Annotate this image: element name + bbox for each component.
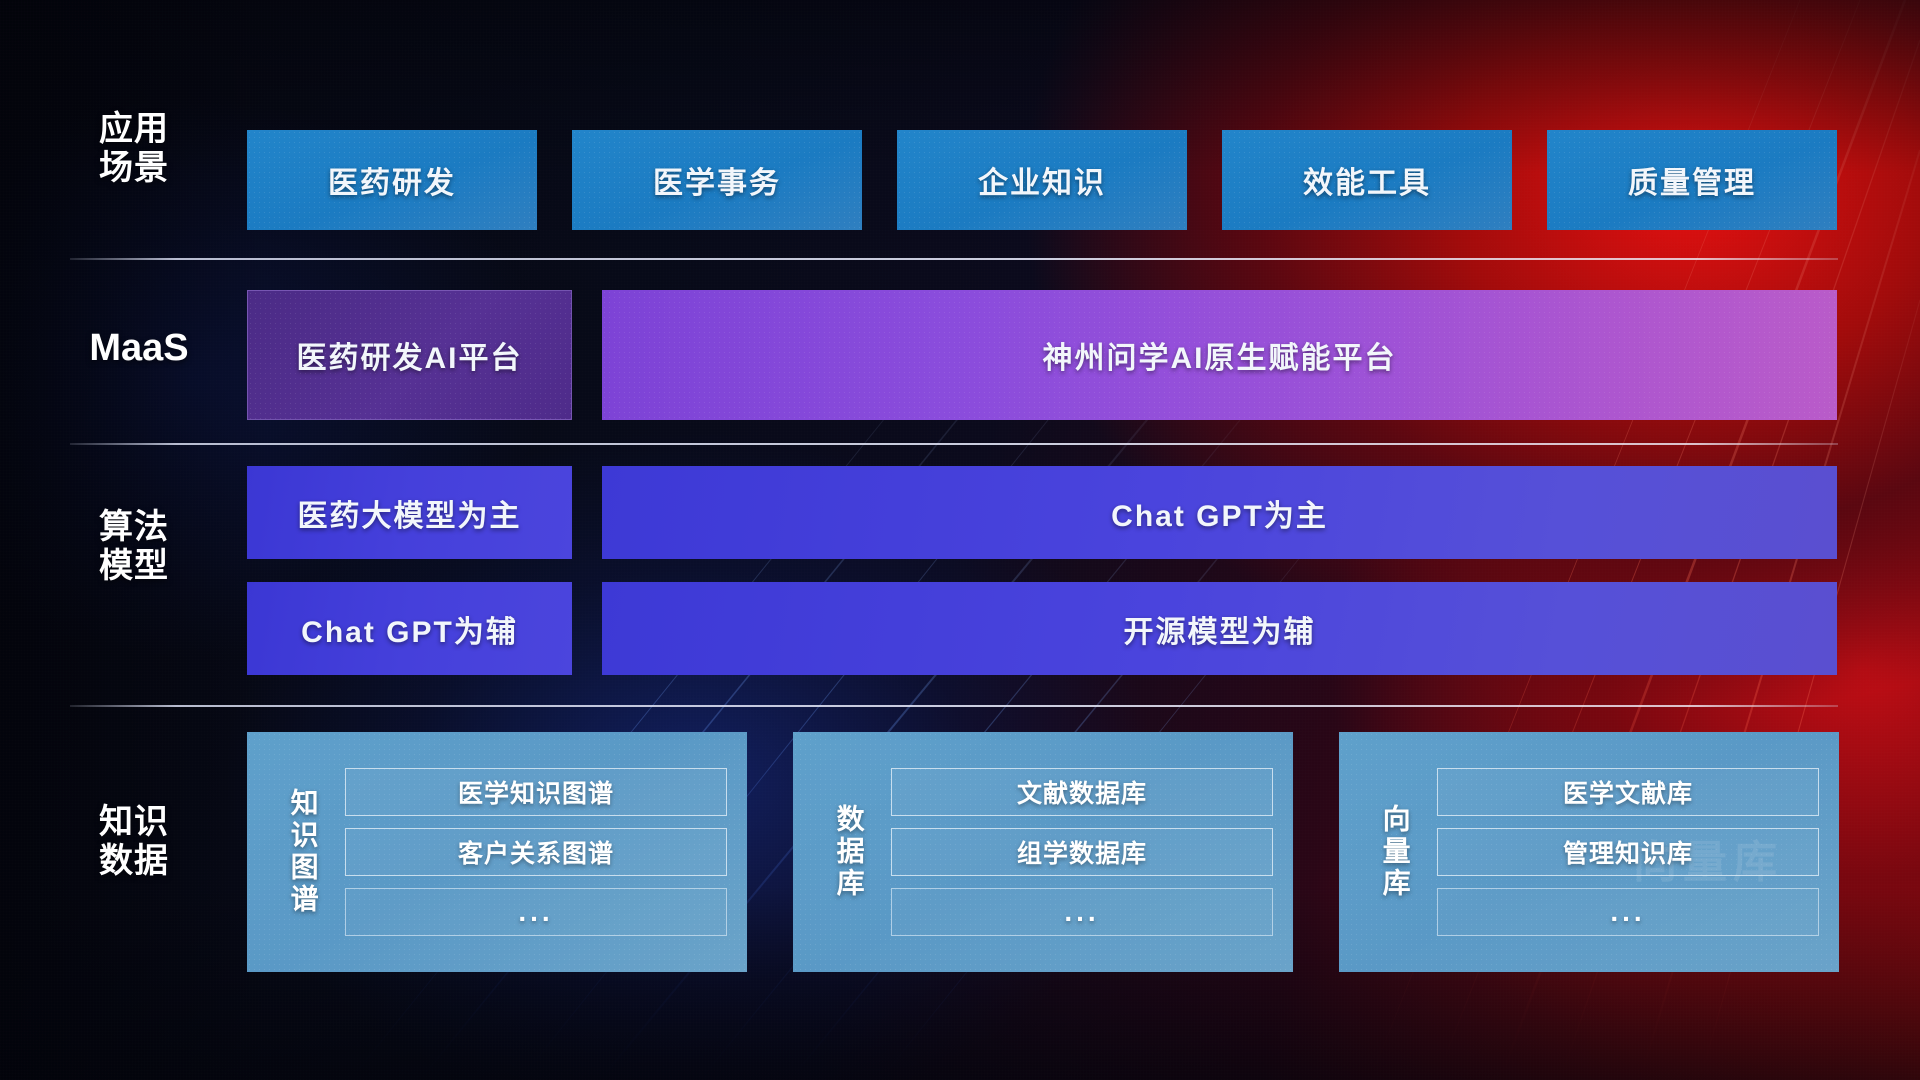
algo-right-box-1-label: 开源模型为辅 (1124, 607, 1316, 651)
knowledge-group-2-item-2[interactable]: ... (1437, 888, 1819, 936)
app-box-1[interactable]: 医学事务 (572, 130, 862, 230)
maas-right-box[interactable]: 神州问学AI原生赋能平台 (602, 290, 1837, 420)
knowledge-group-0-item-1[interactable]: 客户关系图谱 (345, 828, 727, 876)
app-box-0[interactable]: 医药研发 (247, 130, 537, 230)
app-box-3-label: 效能工具 (1303, 158, 1431, 202)
algo-left-box-0[interactable]: 医药大模型为主 (247, 466, 572, 559)
knowledge-group-1-item-2[interactable]: ... (891, 888, 1273, 936)
knowledge-group-0-label: 知识图谱 (275, 788, 331, 916)
knowledge-group-0-item-0[interactable]: 医学知识图谱 (345, 768, 727, 816)
architecture-diagram-slide: 应用 场景 医药研发 医学事务 企业知识 效能工具 质量管理 MaaS 医药研发… (0, 0, 1920, 1080)
row-label-knowledge: 知识 数据 (74, 803, 194, 881)
maas-right-box-label: 神州问学AI原生赋能平台 (1043, 333, 1397, 377)
maas-left-box[interactable]: 医药研发AI平台 (247, 290, 572, 420)
app-box-1-label: 医学事务 (653, 158, 781, 202)
knowledge-group-0[interactable]: 知识图谱 医学知识图谱 客户关系图谱 ... (247, 732, 747, 972)
row-label-application: 应用 场景 (74, 110, 194, 188)
knowledge-group-1-item-1[interactable]: 组学数据库 (891, 828, 1273, 876)
knowledge-group-2-item-0[interactable]: 医学文献库 (1437, 768, 1819, 816)
algo-left-box-0-label: 医药大模型为主 (298, 491, 522, 535)
app-box-0-label: 医药研发 (328, 158, 456, 202)
maas-left-box-label: 医药研发AI平台 (297, 333, 523, 377)
knowledge-group-1-label: 数据库 (821, 804, 877, 900)
knowledge-group-2-items: 医学文献库 管理知识库 ... (1437, 746, 1823, 958)
knowledge-group-2-label: 向量库 (1367, 804, 1423, 900)
app-box-4-label: 质量管理 (1628, 158, 1756, 202)
divider-maas-algorithm (70, 443, 1838, 445)
row-label-maas: MaaS (74, 327, 204, 370)
divider-algorithm-knowledge (70, 705, 1838, 707)
algo-left-box-1[interactable]: Chat GPT为辅 (247, 582, 572, 675)
algo-right-box-0-label: Chat GPT为主 (1111, 491, 1328, 535)
algo-right-box-0[interactable]: Chat GPT为主 (602, 466, 1837, 559)
row-label-algorithm: 算法 模型 (74, 508, 194, 586)
app-box-4[interactable]: 质量管理 (1547, 130, 1837, 230)
app-box-2-label: 企业知识 (978, 158, 1106, 202)
app-box-2[interactable]: 企业知识 (897, 130, 1187, 230)
algo-left-box-1-label: Chat GPT为辅 (301, 607, 518, 651)
knowledge-group-1-item-0[interactable]: 文献数据库 (891, 768, 1273, 816)
knowledge-group-2[interactable]: 向量库 向量库 医学文献库 管理知识库 ... (1339, 732, 1839, 972)
knowledge-group-1[interactable]: 数据库 文献数据库 组学数据库 ... (793, 732, 1293, 972)
knowledge-group-2-item-1[interactable]: 管理知识库 (1437, 828, 1819, 876)
knowledge-group-0-item-2[interactable]: ... (345, 888, 727, 936)
knowledge-group-0-items: 医学知识图谱 客户关系图谱 ... (345, 746, 731, 958)
divider-application-maas (70, 258, 1838, 260)
app-box-3[interactable]: 效能工具 (1222, 130, 1512, 230)
algo-right-box-1[interactable]: 开源模型为辅 (602, 582, 1837, 675)
knowledge-group-1-items: 文献数据库 组学数据库 ... (891, 746, 1277, 958)
